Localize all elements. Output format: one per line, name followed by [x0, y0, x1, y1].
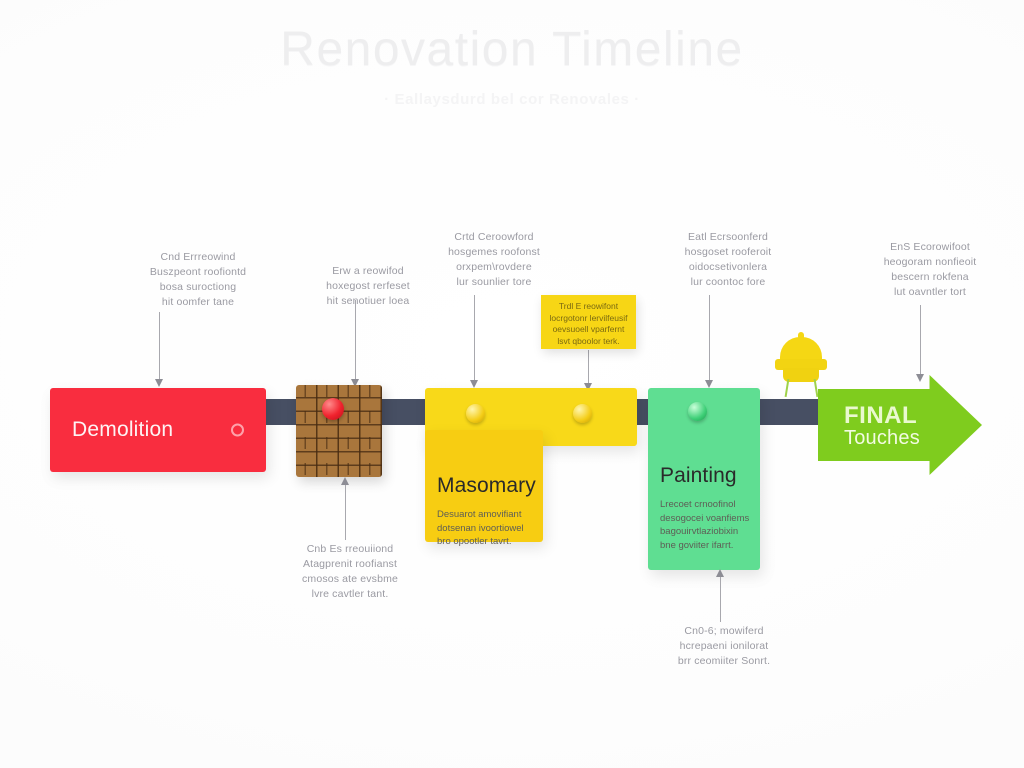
stage-label-final-top: FINAL [844, 402, 917, 430]
annotation-note-5: EnS Ecorowifoot heogoram nonfieoit besce… [848, 240, 1012, 300]
yellow-bead-marker-icon-1 [466, 404, 485, 423]
annotation-note-2: Erw a reowifod hoxegost rerfeset hit sen… [292, 264, 444, 309]
green-bead-marker-icon [688, 402, 707, 421]
ring-icon [231, 424, 244, 437]
page-subtitle: · Eallaysdurd bel cor Renovales · [0, 91, 1024, 108]
timeline-canvas: Renovation Timeline · Eallaysdurd bel co… [0, 0, 1024, 768]
page-title: Renovation Timeline [0, 24, 1024, 77]
lamp-leg-left [785, 379, 790, 397]
stage-label-final-bottom: Touches [844, 427, 920, 450]
page-header: Renovation Timeline · Eallaysdurd bel co… [0, 24, 1024, 108]
leader-line-4 [709, 295, 710, 381]
leader-line-2 [355, 300, 356, 380]
red-bead-marker-icon [322, 398, 344, 420]
annotation-note-4: Eatl Ecrsoonferd hosgoset rooferoit oido… [646, 230, 810, 290]
leader-line-5 [920, 305, 921, 375]
stage-label-demolition: Demolition [72, 418, 173, 442]
lamp-leg-right [814, 379, 819, 397]
sticky-note-text: Trdl E reowifont locrgotonr lervilfeusif… [546, 301, 631, 347]
leader-line-1 [159, 312, 160, 380]
yellow-bead-marker-icon-2 [573, 404, 592, 423]
stage-card-demolition[interactable]: Demolition [50, 388, 266, 472]
stage-card-final-touches[interactable]: FINAL Touches [818, 375, 982, 475]
annotation-note-6: Cnb Es rreouiiond Atagprenit roofianst c… [272, 542, 428, 602]
leader-line-3 [474, 295, 475, 381]
leader-line-7 [720, 576, 721, 622]
leader-line-sticky [588, 350, 589, 384]
annotation-note-3: Crtd Ceroowford hosgemes roofonst orxpem… [412, 230, 576, 290]
annotation-note-7: Cn0-6; mowiferd hcrepaeni ionilorat brr … [650, 624, 798, 669]
leader-line-6 [345, 484, 346, 540]
stage-body-masonry: Desuarot amovifiant dotsenan ivoortiowel… [437, 508, 524, 549]
lamp-icon [770, 335, 832, 397]
stage-label-masonry: Masomary [437, 474, 536, 498]
stage-label-painting: Painting [660, 464, 737, 488]
stage-card-masonry[interactable]: Masomary Desuarot amovifiant dotsenan iv… [425, 430, 543, 542]
stage-body-painting: Lrecoet crnoofinol desogocei voanfiems b… [660, 498, 749, 552]
annotation-note-1: Cnd Errreowind Buszpeont roofiontd bosa … [118, 250, 278, 310]
sticky-note-masonry[interactable]: Trdl E reowifont locrgotonr lervilfeusif… [541, 295, 636, 349]
